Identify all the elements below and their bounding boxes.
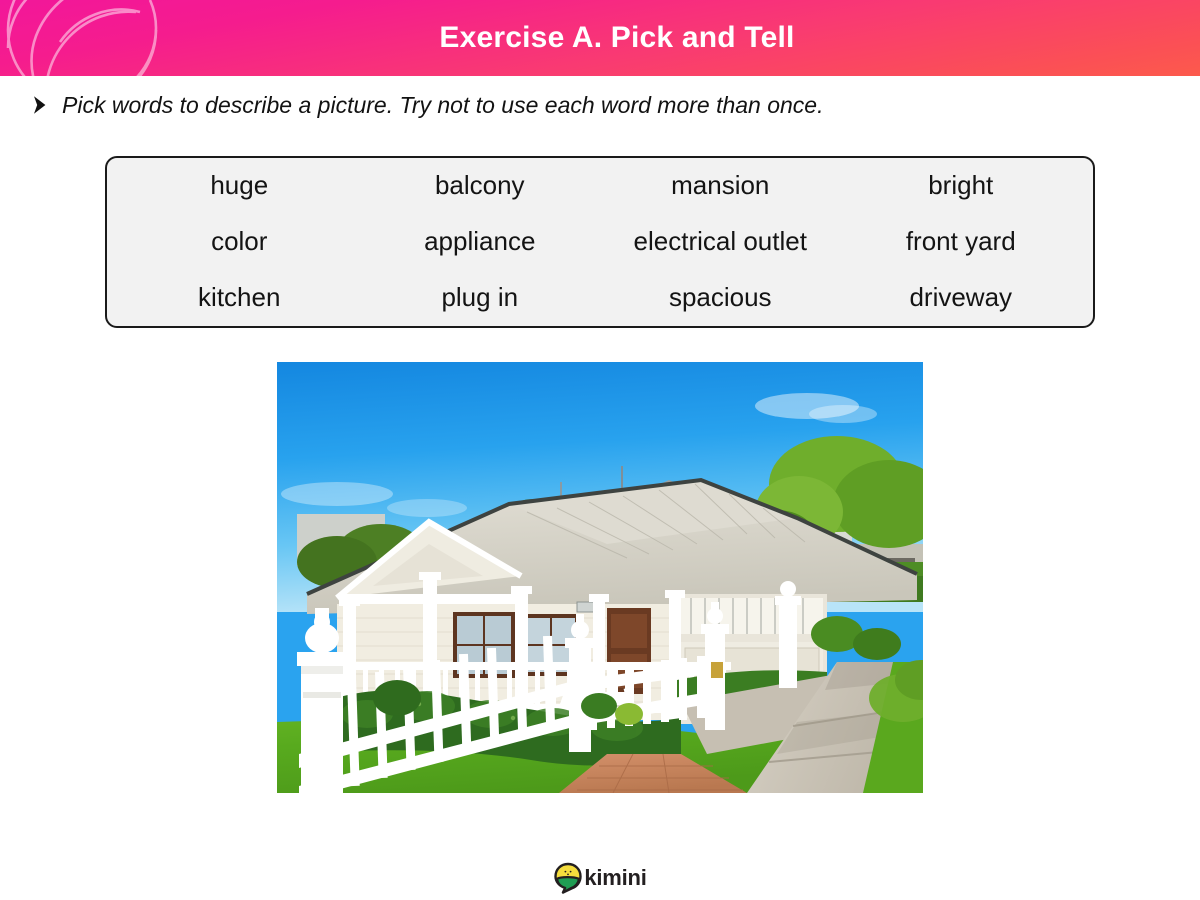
word-chip[interactable]: kitchen (119, 269, 360, 325)
chevron-right-icon (30, 93, 50, 117)
instruction-text: Pick words to describe a picture. Try no… (62, 92, 824, 119)
word-chip[interactable]: plug in (360, 269, 601, 325)
footer-brand: kimini (0, 856, 1200, 900)
word-bank-row: color appliance electrical outlet front … (119, 213, 1081, 269)
word-chip[interactable]: driveway (841, 269, 1082, 325)
word-bank-row: kitchen plug in spacious driveway (119, 269, 1081, 325)
word-chip[interactable]: mansion (600, 157, 841, 213)
word-chip[interactable]: appliance (360, 213, 601, 269)
word-chip[interactable]: electrical outlet (600, 213, 841, 269)
word-chip[interactable]: bright (841, 157, 1082, 213)
word-chip[interactable]: spacious (600, 269, 841, 325)
word-bank-row: huge balcony mansion bright (119, 157, 1081, 213)
house-photo-illustration (277, 362, 923, 793)
word-chip[interactable]: front yard (841, 213, 1082, 269)
word-chip[interactable]: huge (119, 157, 360, 213)
word-chip[interactable]: color (119, 213, 360, 269)
kimini-egg-logo-icon (553, 862, 583, 894)
header-banner: Exercise A. Pick and Tell (0, 0, 1200, 76)
page-title: Exercise A. Pick and Tell (0, 0, 1200, 76)
word-bank-box: huge balcony mansion bright color applia… (105, 156, 1095, 328)
word-chip[interactable]: balcony (360, 157, 601, 213)
brand-name: kimini (584, 865, 646, 891)
instruction-line: Pick words to describe a picture. Try no… (30, 86, 1170, 124)
exercise-photo (277, 362, 923, 793)
